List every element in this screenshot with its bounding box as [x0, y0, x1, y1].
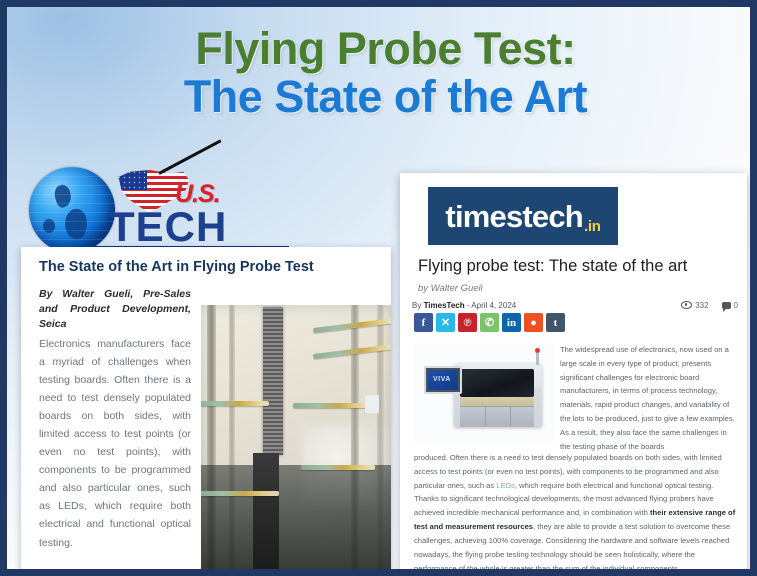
left-article-headline: The State of the Art in Flying Probe Tes… [39, 259, 369, 275]
right-article-meta-row: By TimesTech - April 4, 2024 332 0 [412, 297, 738, 313]
share-twitter-x-button[interactable]: ✕ [436, 313, 455, 332]
social-share-row: f ✕ ℗ ✆ in ● t [414, 313, 565, 332]
right-article-sub-author: by Walter Gueli [418, 283, 483, 294]
timestech-domain-suffix: .in [584, 218, 601, 235]
right-article-headline: Flying probe test: The state of the art [418, 257, 738, 276]
view-count: 332 [681, 301, 708, 310]
title-line-1: Flying Probe Test: [7, 25, 757, 73]
left-article-card: The State of the Art in Flying Probe Tes… [21, 247, 391, 576]
share-tumblr-button[interactable]: t [546, 313, 565, 332]
share-linkedin-button[interactable]: in [502, 313, 521, 332]
timestech-wordmark: timestech [445, 201, 583, 232]
ustech-tech-text: TECH [109, 206, 227, 248]
left-article-body: Electronics manufacturers face a myriad … [39, 335, 191, 552]
leds-link[interactable]: LEDs [496, 481, 515, 490]
byline-source[interactable]: TimesTech [424, 301, 465, 310]
title-line-2: The State of the Art [7, 73, 757, 121]
share-whatsapp-button[interactable]: ✆ [480, 313, 499, 332]
machine-monitor [424, 366, 462, 394]
article-stats: 332 0 [681, 301, 738, 310]
globe-icon [29, 167, 115, 253]
share-facebook-button[interactable]: f [414, 313, 433, 332]
byline-date: April 4, 2024 [471, 301, 516, 310]
eye-icon [681, 301, 692, 309]
flying-probe-photo [201, 305, 391, 576]
left-article-byline: By Walter Gueli, Pre-Sales and Product D… [39, 287, 191, 333]
slide-canvas: Flying Probe Test: The State of the Art … [0, 0, 757, 576]
byline-prefix: By [412, 301, 424, 310]
right-article-byline: By TimesTech - April 4, 2024 [412, 301, 516, 310]
comment-bubble-icon [722, 302, 731, 309]
right-article-body-column: The widespread use of electronics, now u… [560, 343, 736, 454]
share-reddit-button[interactable]: ● [524, 313, 543, 332]
pcb-connector [263, 307, 283, 455]
comment-count-value: 0 [734, 301, 738, 310]
slide-title: Flying Probe Test: The State of the Art [7, 25, 757, 120]
view-count-value: 332 [695, 301, 708, 310]
comment-count: 0 [722, 301, 738, 310]
share-pinterest-button[interactable]: ℗ [458, 313, 477, 332]
timestech-logo: timestech .in [428, 187, 618, 245]
logo-slash-decoration [158, 139, 221, 175]
right-article-body-full: produced. Often there is a need to test … [414, 451, 736, 575]
right-article-card: timestech .in Flying probe test: The sta… [400, 173, 747, 576]
flying-prober-machine-photo [414, 343, 554, 443]
machine-status-lamp [535, 348, 540, 353]
